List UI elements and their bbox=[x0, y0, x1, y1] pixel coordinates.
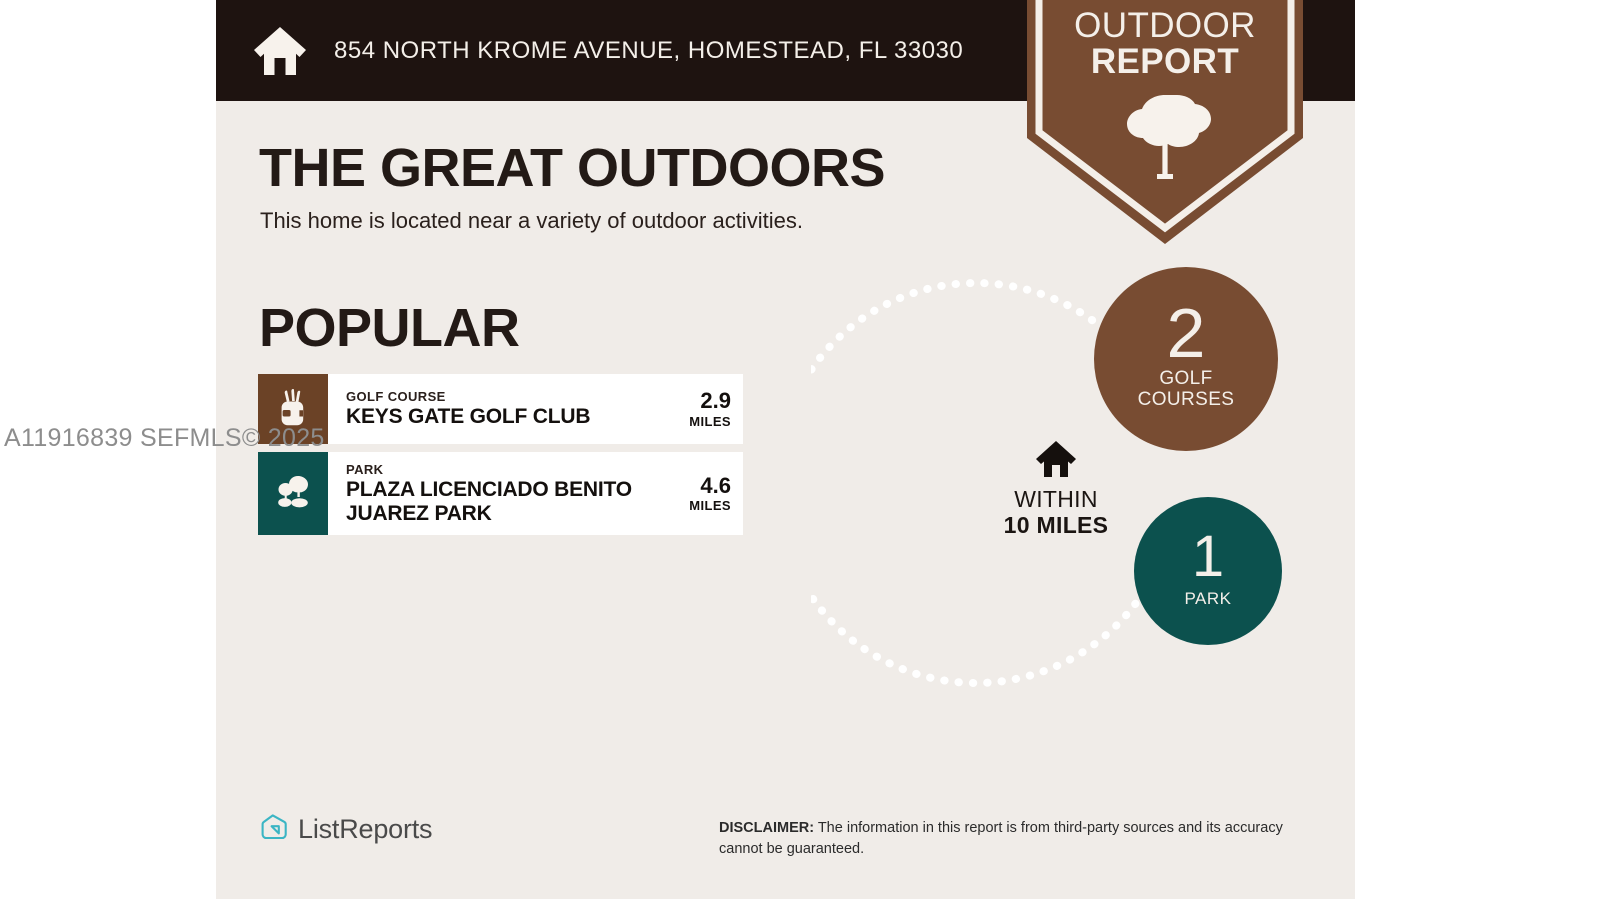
listreports-logo-text: ListReports bbox=[298, 814, 432, 845]
stat-label: PARK bbox=[1184, 589, 1231, 609]
list-item-distance-unit: MILES bbox=[689, 498, 731, 513]
badge-line2: REPORT bbox=[1027, 44, 1303, 80]
stat-count: 1 bbox=[1192, 529, 1224, 584]
stat-label: GOLF COURSES bbox=[1138, 369, 1235, 411]
popular-list: GOLF COURSE KEYS GATE GOLF CLUB 2.9 MILE… bbox=[258, 374, 743, 543]
report-sheet: 854 NORTH KROME AVENUE, HOMESTEAD, FL 33… bbox=[216, 0, 1355, 899]
stat-label-line1: GOLF bbox=[1159, 368, 1212, 389]
list-item-distance: 4.6 MILES bbox=[671, 452, 743, 535]
radius-center-label: WITHIN 10 MILES bbox=[976, 440, 1136, 539]
badge-line1: OUTDOOR bbox=[1027, 8, 1303, 44]
property-address: 854 NORTH KROME AVENUE, HOMESTEAD, FL 33… bbox=[334, 37, 963, 65]
stat-bubble-parks[interactable]: 1 PARK bbox=[1134, 497, 1282, 645]
trees-icon bbox=[272, 470, 314, 517]
stat-count: 2 bbox=[1167, 301, 1206, 365]
list-item-body: GOLF COURSE KEYS GATE GOLF CLUB bbox=[328, 374, 671, 444]
list-item-category: GOLF COURSE bbox=[346, 389, 671, 405]
listreports-house-tag-icon bbox=[258, 812, 288, 847]
list-item-distance-unit: MILES bbox=[689, 414, 731, 429]
page-subtitle: This home is located near a variety of o… bbox=[260, 208, 803, 234]
mls-watermark: A11916839 SEFMLS© 2025 bbox=[4, 424, 325, 453]
list-item[interactable]: GOLF COURSE KEYS GATE GOLF CLUB 2.9 MILE… bbox=[258, 374, 743, 444]
list-item-distance: 2.9 MILES bbox=[671, 374, 743, 444]
list-item-body: PARK PLAZA LICENCIADO BENITO JUAREZ PARK bbox=[328, 452, 671, 535]
page-root: 854 NORTH KROME AVENUE, HOMESTEAD, FL 33… bbox=[0, 0, 1600, 899]
page-title: THE GREAT OUTDOORS bbox=[259, 137, 885, 199]
list-item-icon-tile bbox=[258, 452, 328, 535]
outdoor-report-badge: OUTDOOR REPORT bbox=[1027, 0, 1303, 244]
stat-bubble-golf-courses[interactable]: 2 GOLF COURSES bbox=[1094, 267, 1278, 451]
section-heading-popular: POPULAR bbox=[259, 297, 520, 359]
house-icon bbox=[1035, 440, 1077, 478]
stat-label-line2: COURSES bbox=[1138, 389, 1235, 410]
badge-text: OUTDOOR REPORT bbox=[1027, 8, 1303, 81]
list-item-distance-value: 4.6 bbox=[700, 474, 731, 498]
list-item[interactable]: PARK PLAZA LICENCIADO BENITO JUAREZ PARK… bbox=[258, 452, 743, 535]
list-item-distance-value: 2.9 bbox=[700, 389, 731, 413]
radius-within-label: WITHIN bbox=[976, 486, 1136, 512]
radius-distance-label: 10 MILES bbox=[976, 512, 1136, 538]
disclaimer: DISCLAIMER: The information in this repo… bbox=[719, 818, 1309, 859]
disclaimer-label: DISCLAIMER: bbox=[719, 820, 814, 836]
list-item-category: PARK bbox=[346, 462, 671, 478]
listreports-logo[interactable]: ListReports bbox=[258, 812, 432, 847]
list-item-name: PLAZA LICENCIADO BENITO JUAREZ PARK bbox=[346, 478, 671, 525]
house-icon bbox=[252, 25, 308, 77]
list-item-name: KEYS GATE GOLF CLUB bbox=[346, 405, 671, 429]
